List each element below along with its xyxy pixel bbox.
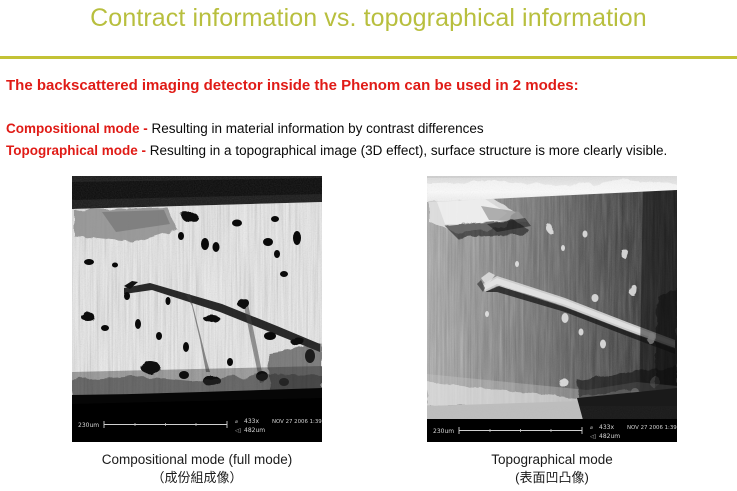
mode-description-topographical: Resulting in a topographical image (3D e…	[150, 143, 667, 158]
mode-separator-compositional: -	[140, 121, 152, 136]
title-divider	[0, 56, 737, 59]
mode-term-topographical: Topographical mode	[6, 143, 138, 158]
mode-separator-topographical: -	[138, 143, 150, 158]
svg-text:◁]: ◁]	[235, 428, 241, 434]
micrograph-topographical: 230um ⌀ 433x ◁] 482um NOV 27 2006 1:39PM	[427, 176, 677, 442]
page-title: Contract information vs. topographical i…	[0, 4, 737, 33]
svg-text:◁]: ◁]	[590, 434, 596, 440]
compositional-sem-image: 230um ⌀ 433x ◁] 482um NOV 27 2006 1:39PM	[72, 176, 322, 442]
mode-line-compositional: Compositional mode - Resulting in materi…	[6, 121, 484, 136]
svg-text:⌀: ⌀	[590, 425, 593, 431]
mode-line-topographical: Topographical mode - Resulting in a topo…	[6, 143, 667, 158]
caption-topographical: Topographical mode (表面凹凸像)	[402, 451, 702, 487]
micrograph-compositional: 230um ⌀ 433x ◁] 482um NOV 27 2006 1:39PM	[72, 176, 322, 442]
lead-statement: The backscattered imaging detector insid…	[6, 77, 579, 94]
caption-topographical-en: Topographical mode	[491, 452, 613, 467]
caption-compositional-cjk: （成份組成像）	[47, 469, 347, 487]
svg-text:230um: 230um	[433, 428, 454, 435]
mode-term-compositional: Compositional mode	[6, 121, 140, 136]
caption-compositional: Compositional mode (full mode) （成份組成像）	[47, 451, 347, 487]
svg-text:482um: 482um	[599, 433, 620, 440]
svg-text:433x: 433x	[599, 424, 614, 431]
caption-compositional-en: Compositional mode (full mode)	[102, 452, 293, 467]
svg-text:433x: 433x	[244, 418, 259, 425]
svg-text:NOV 27 2006 1:39PM: NOV 27 2006 1:39PM	[272, 419, 322, 425]
svg-text:482um: 482um	[244, 427, 265, 434]
topographical-sem-image: 230um ⌀ 433x ◁] 482um NOV 27 2006 1:39PM	[427, 176, 677, 442]
svg-text:⌀: ⌀	[235, 419, 238, 425]
svg-text:230um: 230um	[78, 422, 99, 429]
caption-topographical-cjk: (表面凹凸像)	[402, 469, 702, 487]
svg-text:NOV 27 2006 1:39PM: NOV 27 2006 1:39PM	[627, 425, 677, 431]
mode-description-compositional: Resulting in material information by con…	[152, 121, 484, 136]
